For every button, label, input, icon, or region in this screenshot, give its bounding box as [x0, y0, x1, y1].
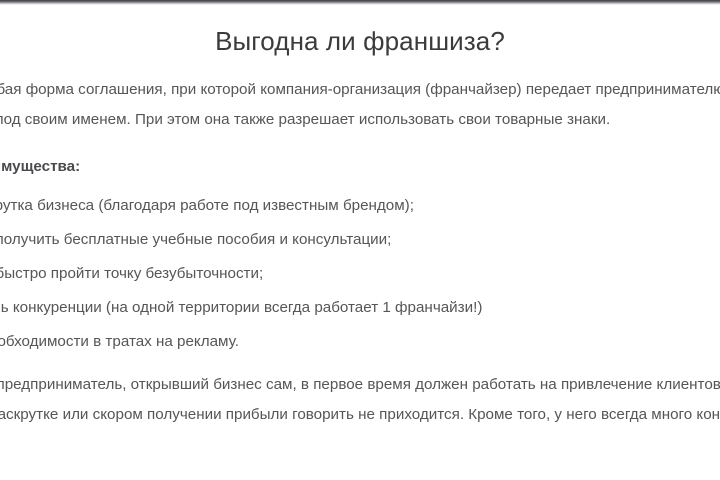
outro-paragraph: Для сравнения: предприниматель, открывши… — [0, 361, 720, 430]
benefits-lead-in: Основные преимущества: — [0, 135, 720, 182]
list-item-text: возможность быстро пройти точку безубыто… — [0, 265, 263, 282]
list-item-text: низкий уровень конкуренции (на одной тер… — [0, 299, 482, 316]
list-item-text: возможность получить бесплатные учебные … — [0, 231, 391, 248]
list-item-text: быстрая раскрутка бизнеса (благодаря раб… — [0, 197, 414, 214]
list-item: – возможность быстро пройти точку безубы… — [0, 259, 720, 289]
article-content: Выгодна ли франшиза? Франшиза – особая ф… — [0, 0, 720, 480]
list-item-text: отсутствие необходимости в тратах на рек… — [0, 333, 239, 350]
list-item: – низкий уровень конкуренции (на одной т… — [0, 293, 720, 323]
intro-paragraph: Франшиза – особая форма соглашения, при … — [0, 58, 720, 135]
list-item: – отсутствие необходимости в тратах на р… — [0, 327, 720, 357]
benefits-list: – быстрая раскрутка бизнеса (благодаря р… — [0, 182, 720, 357]
list-item: – возможность получить бесплатные учебны… — [0, 225, 720, 255]
document-page: Выгодна ли франшиза? Франшиза – особая ф… — [0, 0, 720, 480]
list-item: – быстрая раскрутка бизнеса (благодаря р… — [0, 191, 720, 221]
page-title: Выгодна ли франшиза? — [0, 0, 720, 58]
